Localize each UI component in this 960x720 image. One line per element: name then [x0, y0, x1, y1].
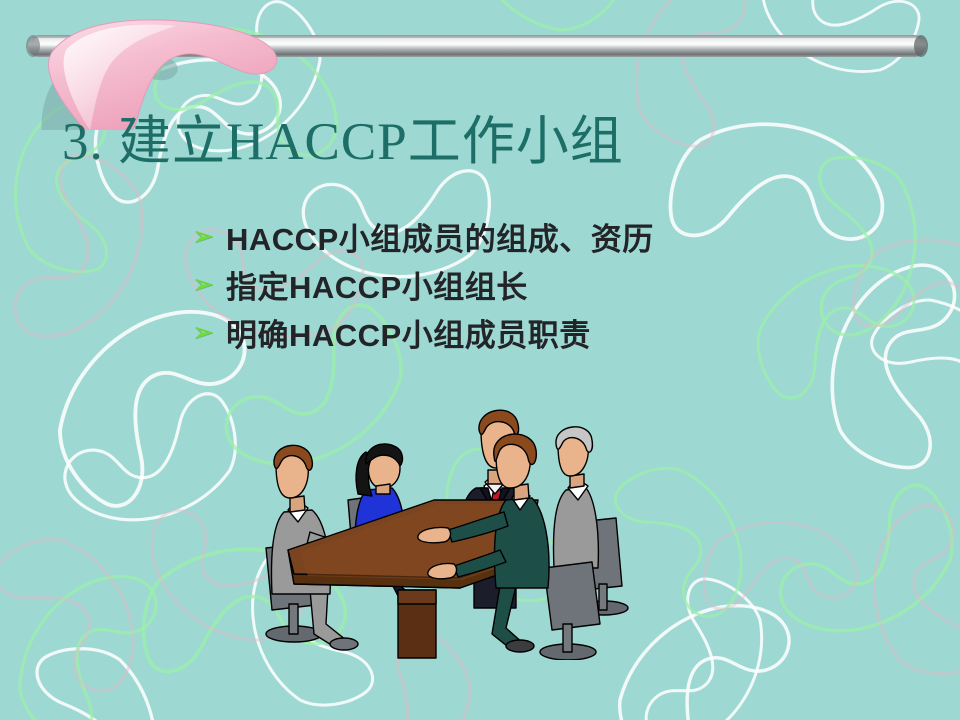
presentation-slide: 3. 建立HACCP工作小组 ➢ HACCP小组成员的组成、资历 ➢ 指定HAC… — [0, 0, 960, 720]
bullet-item-2: ➢ 指定HACCP小组组长 — [192, 260, 892, 308]
bullet-label: 明确HACCP小组成员职责 — [226, 310, 591, 355]
metal-bar-icon — [26, 35, 928, 57]
slide-title: 3. 建立HACCP工作小组 — [62, 112, 624, 172]
bullet-item-1: ➢ HACCP小组成员的组成、资历 — [192, 212, 892, 260]
bullet-label: 指定HACCP小组组长 — [226, 262, 528, 307]
bullet-list: ➢ HACCP小组成员的组成、资历 ➢ 指定HACCP小组组长 ➢ 明确HACC… — [192, 212, 892, 356]
bullet-item-3: ➢ 明确HACCP小组成员职责 — [192, 308, 892, 356]
arrow-bullet-icon: ➢ — [192, 223, 226, 250]
arrow-bullet-icon: ➢ — [192, 319, 226, 346]
header-decoration — [0, 0, 960, 130]
meeting-illustration — [248, 372, 658, 660]
arrow-bullet-icon: ➢ — [192, 271, 226, 298]
bullet-label: HACCP小组成员的组成、资历 — [226, 214, 654, 259]
